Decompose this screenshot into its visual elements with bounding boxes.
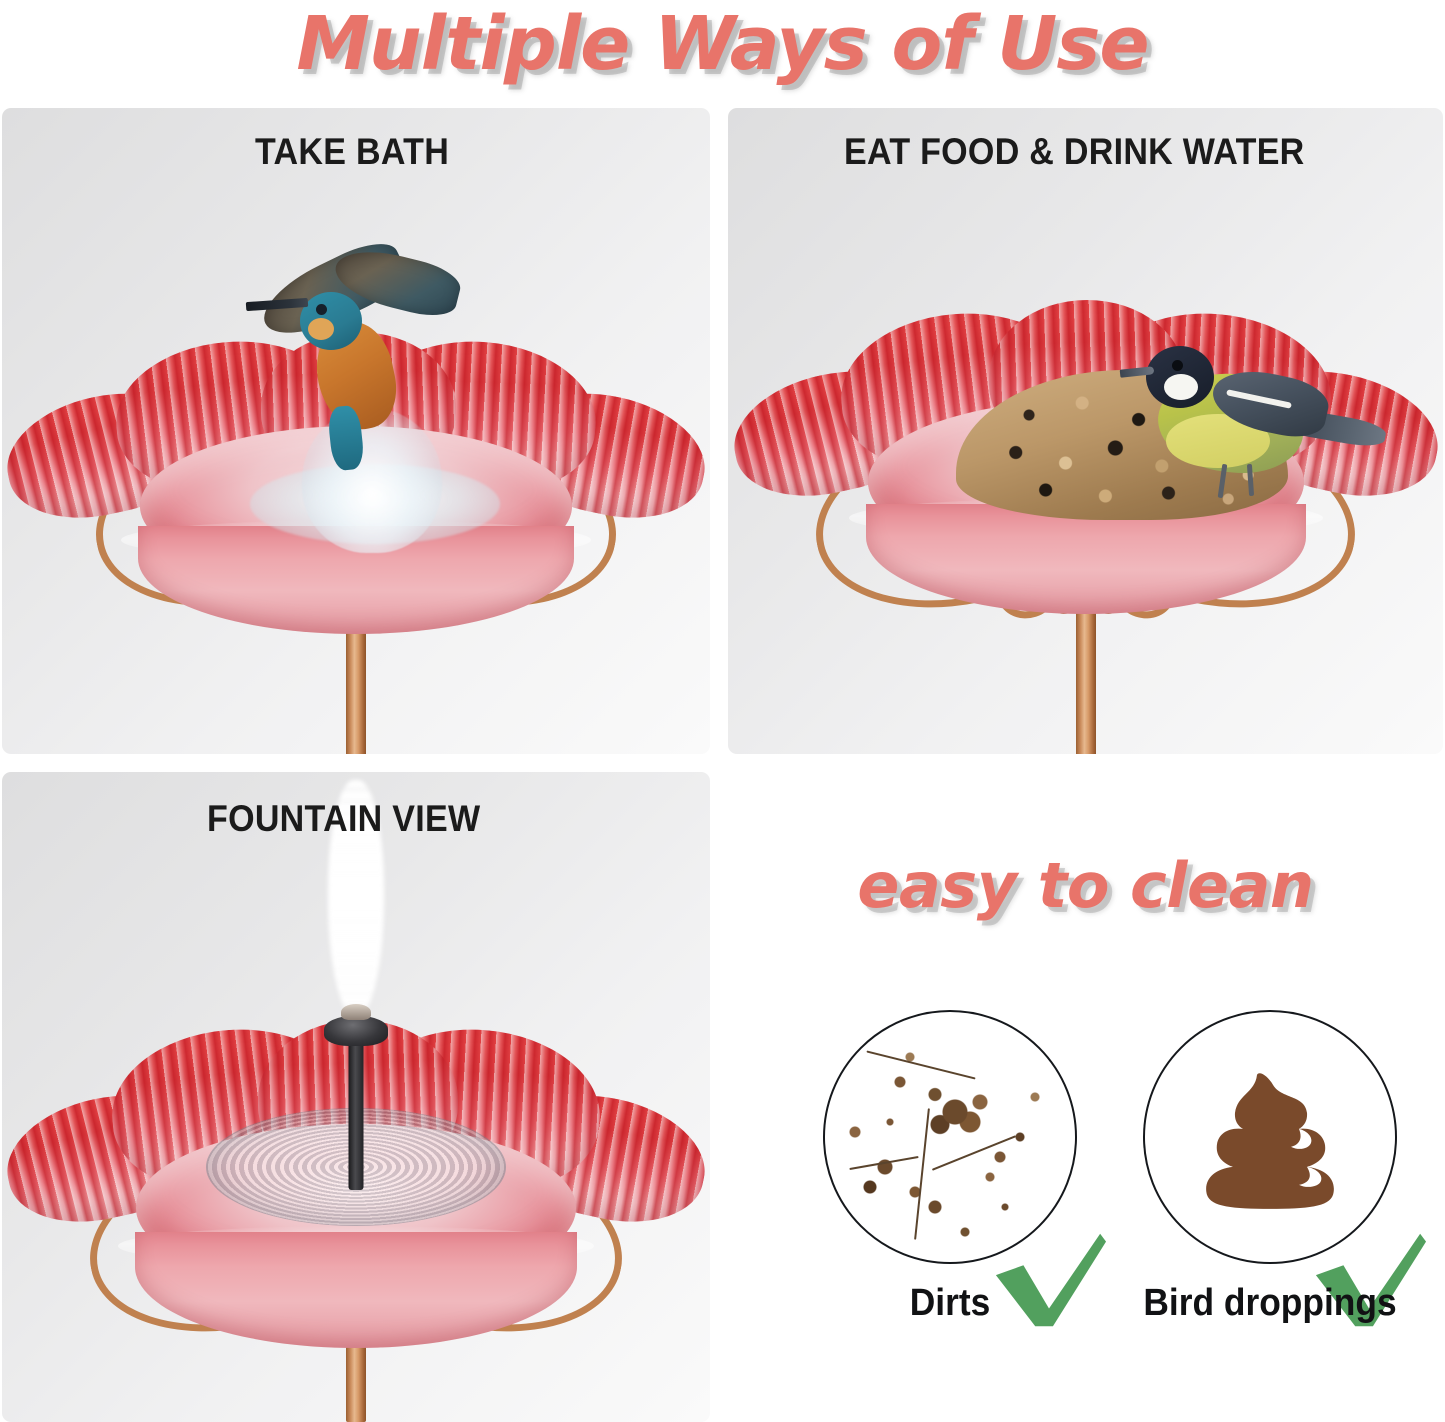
easy-to-clean-heading: easy to clean <box>728 840 1443 932</box>
kingfisher-bird <box>238 256 468 471</box>
clean-item-label: Bird droppings <box>1131 1282 1410 1325</box>
great-tit-bird <box>1116 340 1386 520</box>
panel-label-take-bath: TAKE BATH <box>255 131 449 173</box>
product-birdfeeder <box>728 108 1443 754</box>
droppings-circle <box>1143 1010 1397 1264</box>
dirt-speckles-icon <box>825 1012 1075 1262</box>
bird-eye <box>316 304 327 315</box>
clean-item-droppings: Bird droppings <box>1120 1010 1420 1325</box>
panel-eat-food: EAT FOOD & DRINK WATER <box>728 108 1443 754</box>
panel-label-eat-food: EAT FOOD & DRINK WATER <box>844 131 1305 173</box>
fountain-stem <box>349 1032 364 1190</box>
bird-cheek <box>308 318 334 340</box>
poop-icon <box>1195 1069 1345 1211</box>
page-title: Multiple Ways of Use <box>0 0 1445 90</box>
fountain-nozzle-head <box>324 1016 388 1046</box>
bowl-base <box>866 504 1306 614</box>
bird-eye <box>1172 360 1183 371</box>
fountain-nozzle-cap <box>341 1004 371 1020</box>
dirt-circle <box>823 1010 1077 1264</box>
clean-item-label: Dirts <box>811 1282 1090 1325</box>
product-fountain <box>2 772 710 1422</box>
clean-item-dirts: Dirts <box>800 1010 1100 1325</box>
bowl-base <box>135 1232 577 1348</box>
bird-cheek <box>1164 374 1198 400</box>
panel-take-bath: TAKE BATH <box>2 108 710 754</box>
panel-fountain-view: FOUNTAIN VIEW <box>2 772 710 1422</box>
product-birdbath-bath <box>2 108 710 754</box>
panel-label-fountain-view: FOUNTAIN VIEW <box>207 798 480 840</box>
